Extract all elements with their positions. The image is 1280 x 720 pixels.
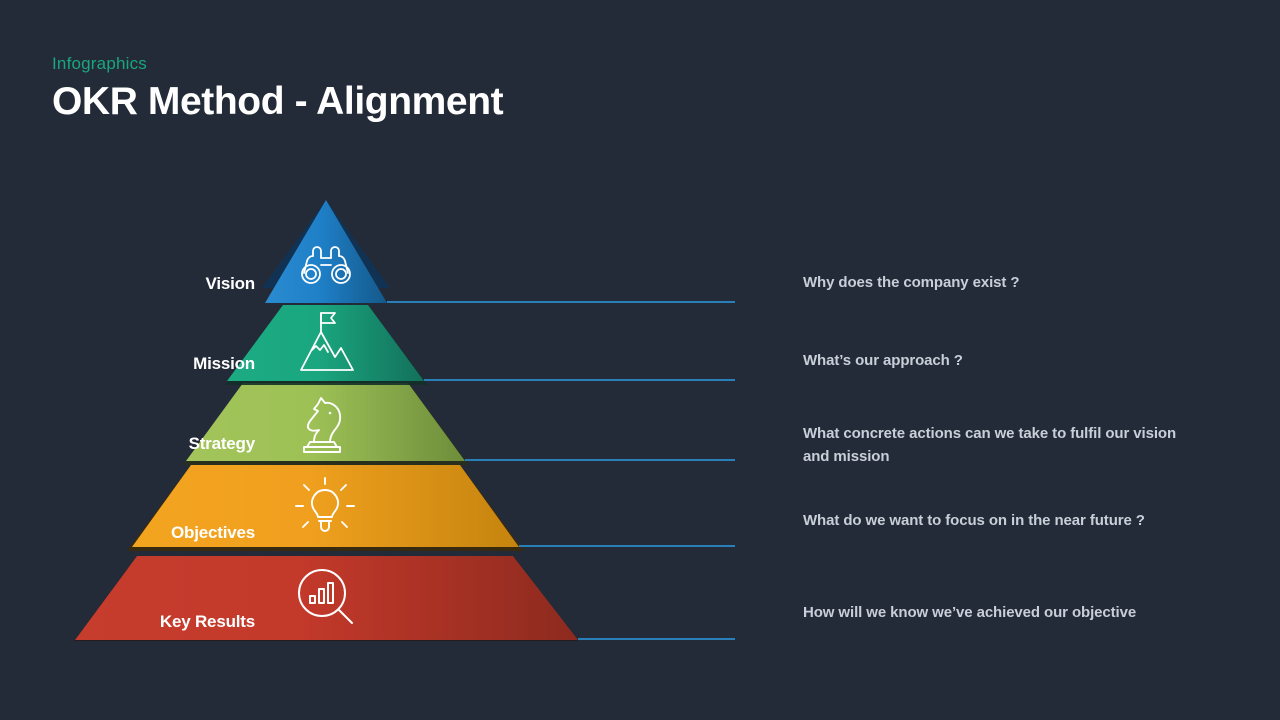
pyramid-level-vision[interactable] — [262, 200, 390, 303]
description-mission: What’s our approach ? — [803, 350, 1193, 373]
pyramid-label-objectives: Objectives — [0, 523, 255, 543]
description-key-results: How will we know we’ve achieved our obje… — [803, 602, 1193, 625]
pyramid-label-key-results: Key Results — [0, 612, 255, 632]
description-vision: Why does the company exist ? — [803, 272, 1193, 295]
pyramid-level-mission[interactable] — [225, 305, 428, 385]
description-objectives: What do we want to focus on in the near … — [803, 510, 1193, 533]
pyramid-label-mission: Mission — [0, 354, 255, 374]
pyramid-label-strategy: Strategy — [0, 434, 255, 454]
description-strategy: What concrete actions can we take to ful… — [803, 423, 1193, 469]
pyramid-diagram: Vision Mission Strategy Objectives Key R… — [0, 0, 800, 720]
pyramid-label-vision: Vision — [0, 274, 255, 294]
level-shape-vision — [265, 200, 387, 303]
